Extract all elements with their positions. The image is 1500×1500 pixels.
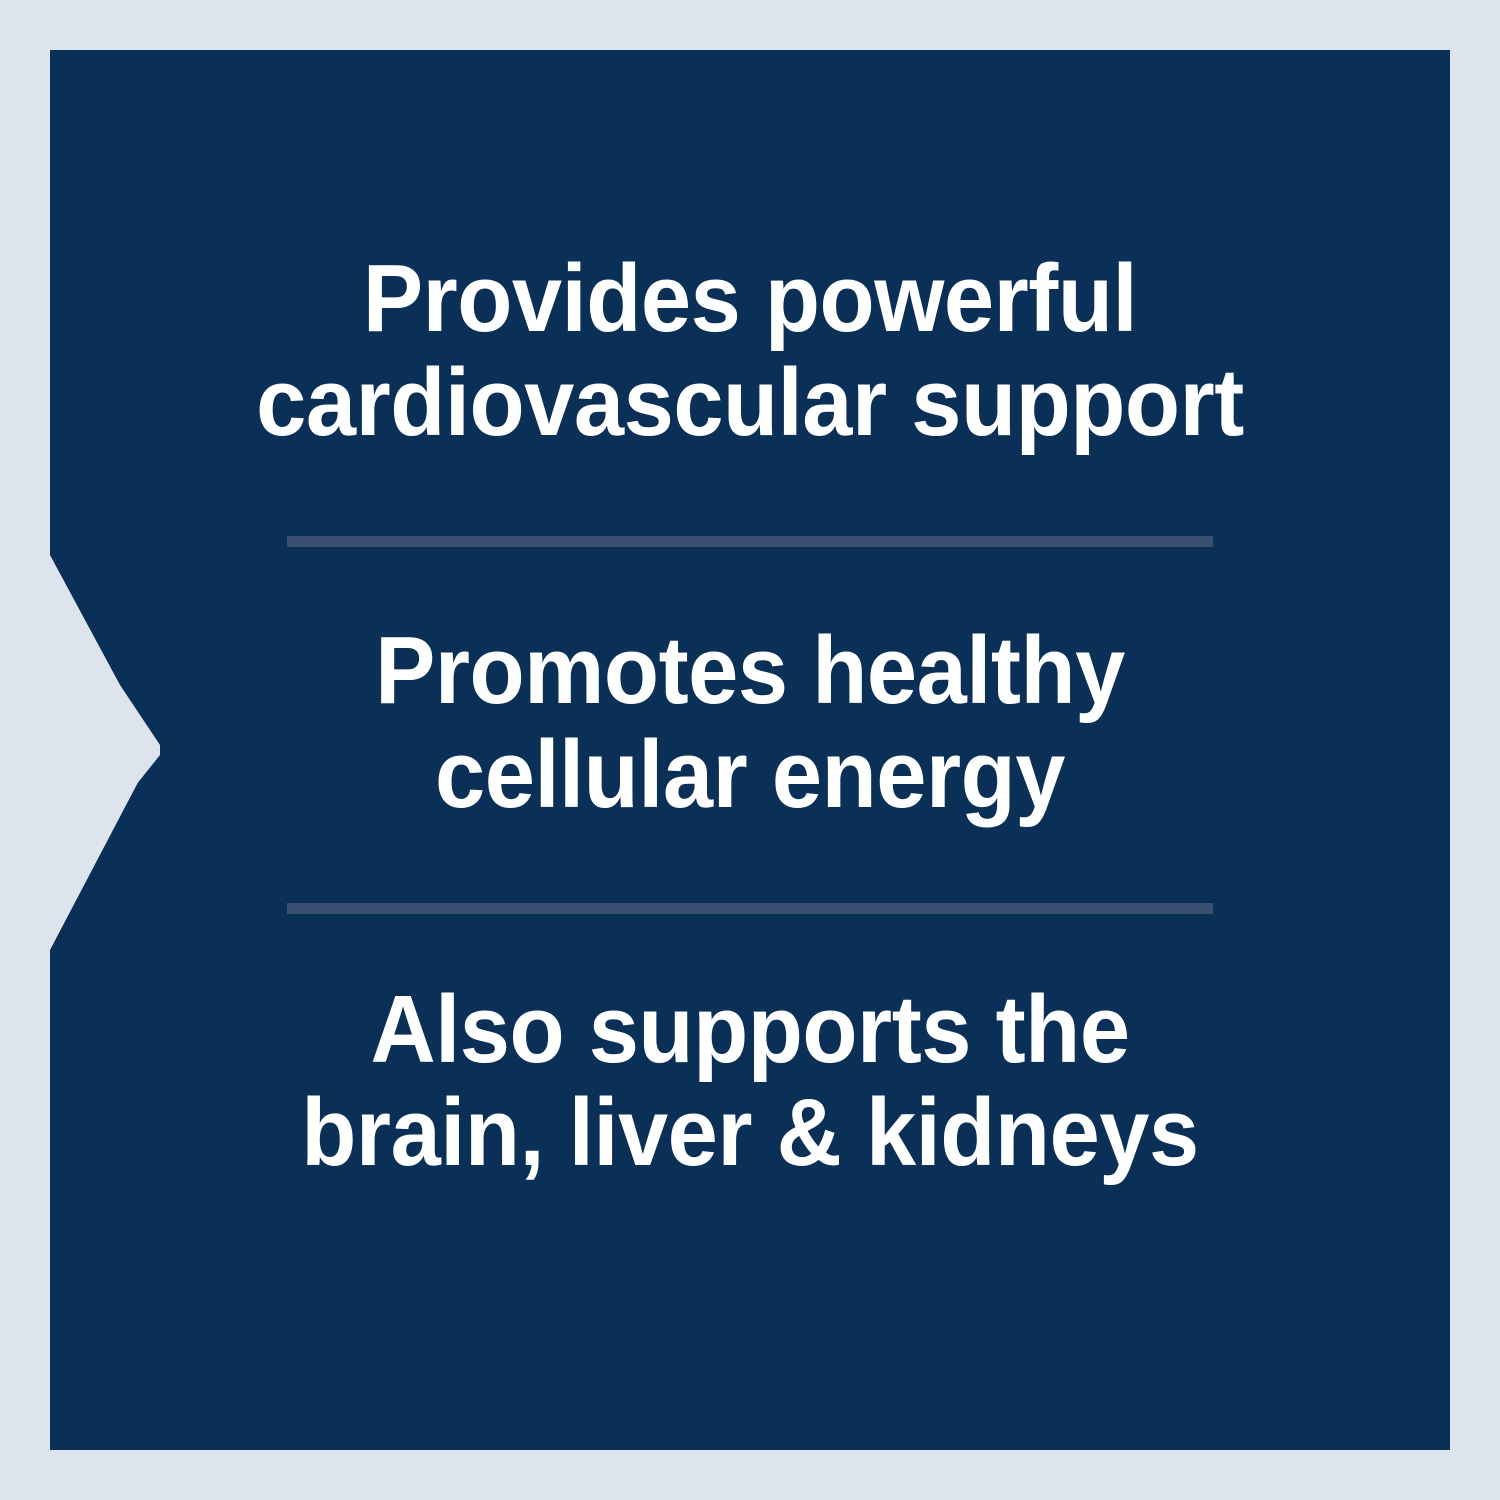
benefit-divider-1 — [287, 536, 1213, 547]
benefits-list: Provides powerful cardiovascular support… — [50, 50, 1450, 1450]
benefit-brain-liver-kidneys: Also supports the brain, liver & kidneys — [172, 978, 1328, 1185]
benefit-cellular-energy: Promotes healthy cellular energy — [172, 619, 1328, 826]
product-benefits-graphic: Provides powerful cardiovascular support… — [0, 0, 1500, 1500]
benefit-cardiovascular-support: Provides powerful cardiovascular support — [172, 247, 1328, 454]
benefit-divider-2 — [287, 903, 1213, 914]
